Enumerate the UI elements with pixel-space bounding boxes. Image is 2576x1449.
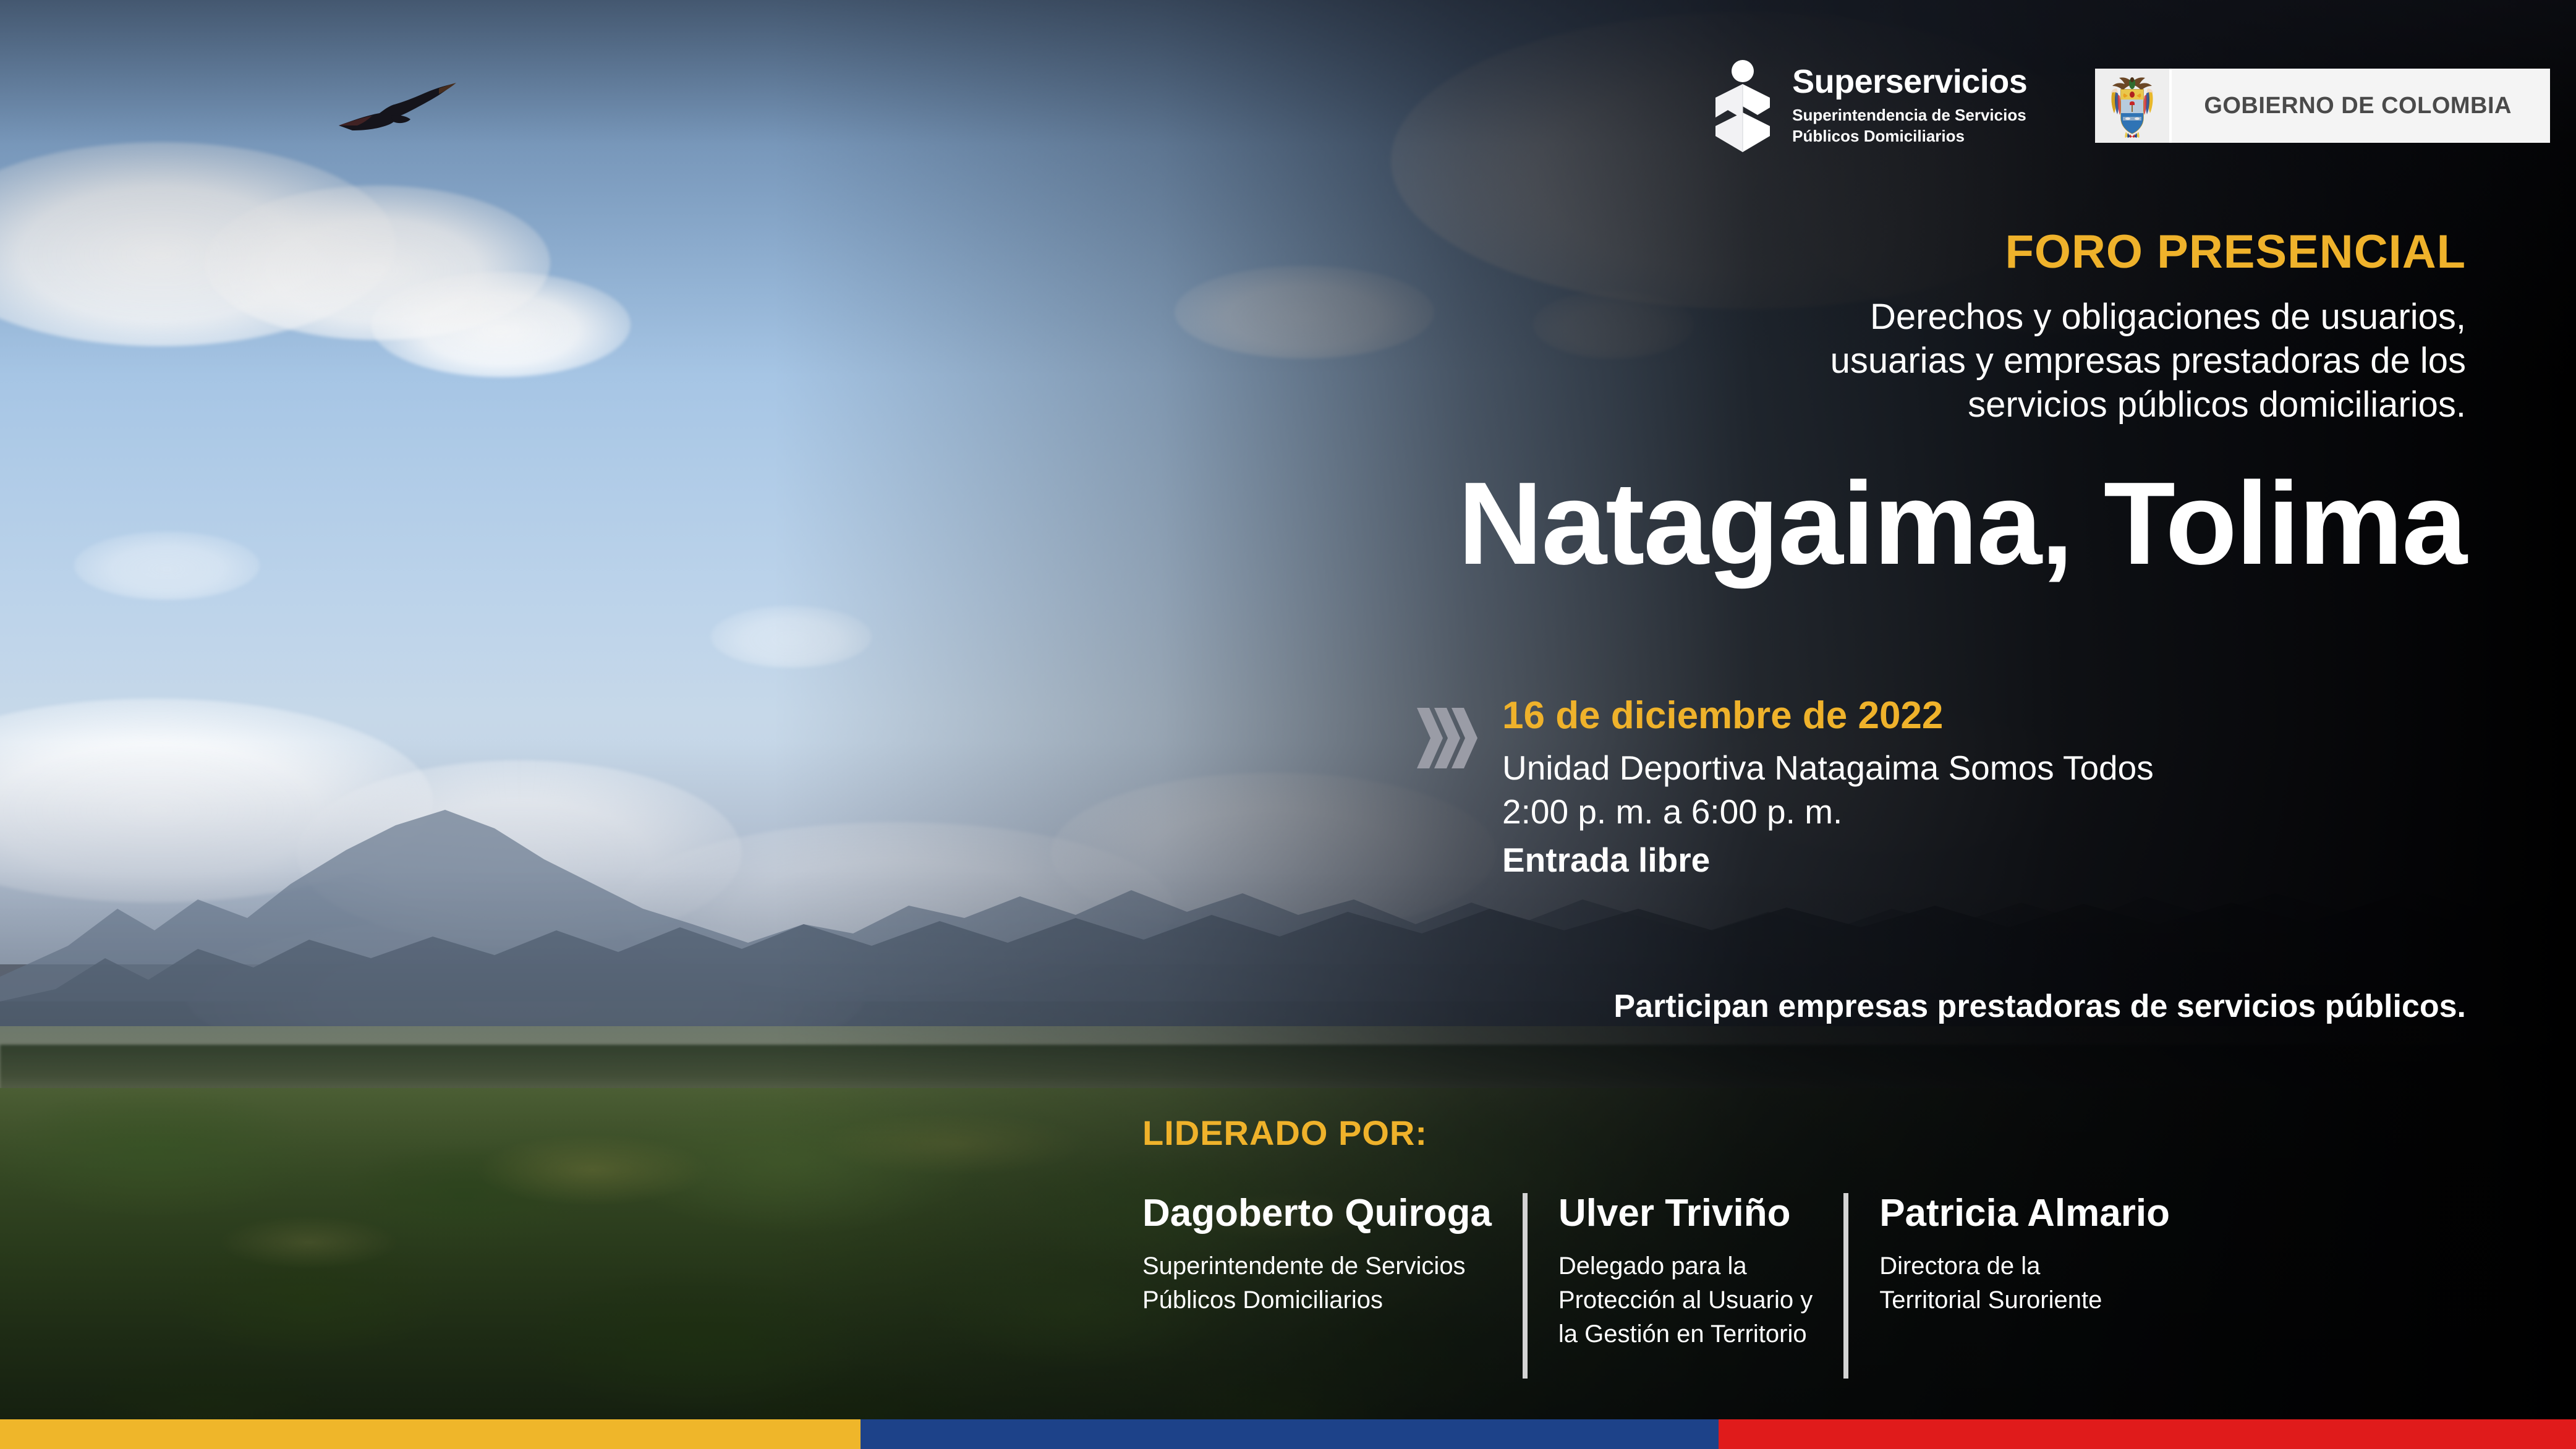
leadership-list: Dagoberto Quiroga Superintendente de Ser… xyxy=(1142,1193,2201,1379)
leader-item: Dagoberto Quiroga Superintendente de Ser… xyxy=(1142,1193,1523,1379)
leader-role: Delegado para la Protección al Usuario y… xyxy=(1558,1249,1813,1352)
event-type-kicker: FORO PRESENCIAL xyxy=(1644,229,2466,276)
header-logo-row: Superservicios Superintendencia de Servi… xyxy=(1709,59,2550,152)
triple-chevron-right-icon xyxy=(1416,704,1477,772)
superservicios-subtitle: Superintendencia de Servicios Públicos D… xyxy=(1792,104,2027,147)
superservicios-logo: Superservicios Superintendencia de Servi… xyxy=(1709,59,2027,152)
event-venue: Unidad Deportiva Natagaima Somos Todos xyxy=(1502,746,2154,791)
event-time: 2:00 p. m. a 6:00 p. m. xyxy=(1502,790,2154,835)
flag-stripe-red xyxy=(1719,1419,2576,1449)
leadership-heading: LIDERADO POR: xyxy=(1142,1113,1427,1153)
leader-name: Ulver Triviño xyxy=(1558,1193,1813,1233)
leader-name: Patricia Almario xyxy=(1879,1193,2170,1233)
gobierno-de-colombia-label: GOBIERNO DE COLOMBIA xyxy=(2172,69,2550,143)
leader-role: Directora de la Territorial Suroriente xyxy=(1879,1249,2170,1317)
flag-stripe-yellow xyxy=(0,1419,861,1449)
superservicios-wordmark: Superservicios Superintendencia de Servi… xyxy=(1792,65,2027,147)
event-subtitle: Derechos y obligaciones de usuarios, usu… xyxy=(1644,295,2466,427)
hero-text-column: FORO PRESENCIAL Derechos y obligaciones … xyxy=(1644,229,2466,427)
event-banner: Superservicios Superintendencia de Servi… xyxy=(0,0,2576,1449)
gobierno-de-colombia-badge: GOBIERNO DE COLOMBIA xyxy=(2095,69,2550,143)
colombia-coat-of-arms-icon xyxy=(2106,74,2159,138)
leader-item: Ulver Triviño Delegado para la Protecció… xyxy=(1523,1193,1843,1379)
event-admission: Entrada libre xyxy=(1502,838,2154,883)
emblem-container xyxy=(2095,69,2172,143)
flag-stripe-blue xyxy=(861,1419,1719,1449)
leader-name: Dagoberto Quiroga xyxy=(1142,1193,1492,1233)
leader-role: Superintendente de Servicios Públicos Do… xyxy=(1142,1249,1492,1317)
banner-content: Superservicios Superintendencia de Servi… xyxy=(0,0,2576,1449)
participation-note: Participan empresas prestadoras de servi… xyxy=(1613,988,2466,1025)
event-details-block: 16 de diciembre de 2022 Unidad Deportiva… xyxy=(1416,695,2154,882)
event-city-title: Natagaima, Tolima xyxy=(1458,465,2466,582)
event-date: 16 de diciembre de 2022 xyxy=(1502,695,2154,736)
event-details-text: 16 de diciembre de 2022 Unidad Deportiva… xyxy=(1502,695,2154,882)
leader-item: Patricia Almario Directora de la Territo… xyxy=(1843,1193,2201,1379)
superservicios-title: Superservicios xyxy=(1792,65,2027,98)
superservicios-s-mark-icon xyxy=(1709,59,1776,152)
colombia-flag-bar xyxy=(0,1419,2576,1449)
